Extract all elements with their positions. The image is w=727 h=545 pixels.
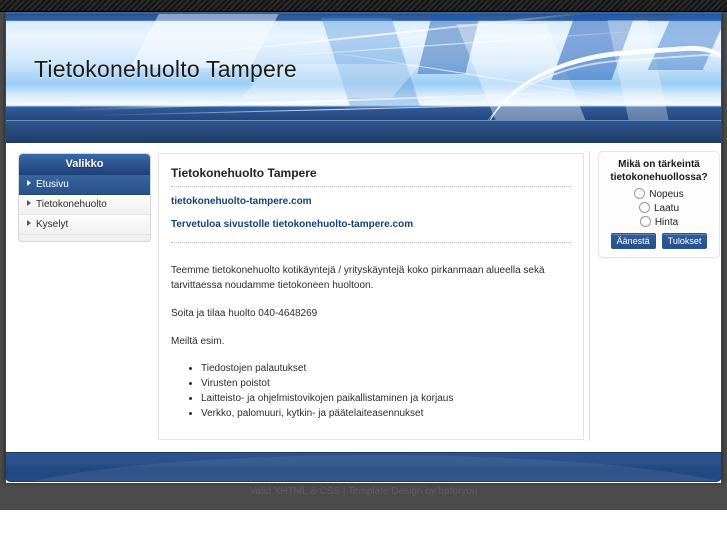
link-site-domain[interactable]: tietokonehuolto-tampere.com xyxy=(171,196,571,207)
banner-shard-7 xyxy=(648,14,721,70)
menu-title: Valikko xyxy=(19,154,150,175)
site-banner: Tietokonehuolto Tampere xyxy=(6,14,721,120)
banner-streak-4 xyxy=(96,101,656,116)
right-column: Mikä on tärkeintä tietokonehuollossa? No… xyxy=(598,151,720,258)
poll-option-hinta[interactable]: Hinta xyxy=(604,217,714,228)
content-panel: Tietokonehuolto Tampere tietokonehuolto-… xyxy=(158,153,584,440)
list-item: Verkko, palomuuri, kytkin- ja päätelaite… xyxy=(201,407,571,420)
service-list: Tiedostojen palautukset Virusten poistot… xyxy=(171,362,571,420)
article-paragraph-2: Soita ja tilaa huolto 040-4648269 xyxy=(171,306,571,321)
sidebar-item-tietokonehuolto[interactable]: Tietokonehuolto xyxy=(19,195,150,215)
list-item: Virusten poistot xyxy=(201,377,571,390)
footer-credit: Valid XHTML & CSS | Template Design by h… xyxy=(0,486,727,497)
poll-option-nopeus[interactable]: Nopeus xyxy=(604,189,714,200)
arrow-right-icon xyxy=(27,180,31,186)
sidebar-item-label: Tietokonehuolto xyxy=(36,199,107,210)
article-body: Teemme tietokonehuolto kotikäyntejä / yr… xyxy=(171,263,571,420)
banner-shard-3 xyxy=(417,14,482,74)
article-title: Tietokonehuolto Tampere xyxy=(171,166,571,180)
column-separator xyxy=(589,151,590,441)
footer-gloss xyxy=(5,455,722,482)
radio-icon[interactable] xyxy=(640,216,651,227)
bottom-fill xyxy=(0,510,727,545)
body-area: Valikko Etusivu Tietokonehuolto Kyselyt … xyxy=(6,143,721,483)
poll-question: Mikä on tärkeintä tietokonehuollossa? xyxy=(604,158,714,184)
sidebar-item-etusivu[interactable]: Etusivu xyxy=(19,175,150,195)
poll-box: Mikä on tärkeintä tietokonehuollossa? No… xyxy=(598,151,720,258)
banner-swoosh-secondary xyxy=(469,50,721,120)
arrow-right-icon xyxy=(27,220,31,226)
banner-streak-1 xyxy=(187,14,605,56)
site-shell: Tietokonehuolto Tampere Valikko Etusivu … xyxy=(5,12,722,482)
banner-shard-6 xyxy=(607,20,668,120)
page-root: Tietokonehuolto Tampere Valikko Etusivu … xyxy=(0,0,727,545)
banner-swoosh xyxy=(477,42,721,120)
poll-buttons: Äänestä Tulokset xyxy=(604,233,714,249)
link-welcome[interactable]: Tervetuloa sivustolle tietokonehuolto-ta… xyxy=(171,219,571,230)
banner-streak-3 xyxy=(66,91,586,111)
divider-bottom xyxy=(171,242,571,243)
radio-icon[interactable] xyxy=(634,188,645,199)
banner-shard-2 xyxy=(321,18,420,108)
list-item: Laitteisto- ja ohjelmistovikojen paikall… xyxy=(201,392,571,405)
article-paragraph-1: Teemme tietokonehuolto kotikäyntejä / yr… xyxy=(171,263,571,293)
arrow-right-icon xyxy=(27,200,31,206)
footer-bar xyxy=(5,452,722,482)
left-column: Valikko Etusivu Tietokonehuolto Kyselyt xyxy=(18,153,151,242)
poll-option-label: Laatu xyxy=(654,203,679,214)
header-navbar xyxy=(6,120,721,143)
radio-icon[interactable] xyxy=(639,202,650,213)
top-stripe-band xyxy=(0,0,727,12)
menu-box: Valikko Etusivu Tietokonehuolto Kyselyt xyxy=(18,153,151,242)
poll-option-label: Hinta xyxy=(655,217,678,228)
results-button[interactable]: Tulokset xyxy=(662,233,708,249)
poll-option-label: Nopeus xyxy=(649,189,683,200)
banner-shard-4 xyxy=(457,24,586,120)
vote-button[interactable]: Äänestä xyxy=(611,233,656,249)
list-item: Tiedostojen palautukset xyxy=(201,362,571,375)
sidebar-item-label: Kyselyt xyxy=(36,219,68,230)
page-title: Tietokonehuolto Tampere xyxy=(34,56,297,83)
sidebar-item-kyselyt[interactable]: Kyselyt xyxy=(19,215,150,235)
banner-shard-5 xyxy=(551,14,640,80)
divider-top xyxy=(171,186,571,187)
poll-option-laatu[interactable]: Laatu xyxy=(604,203,714,214)
banner-streak-5 xyxy=(308,48,634,101)
list-intro: Meiltä esim. xyxy=(171,334,571,349)
sidebar-item-label: Etusivu xyxy=(36,179,69,190)
